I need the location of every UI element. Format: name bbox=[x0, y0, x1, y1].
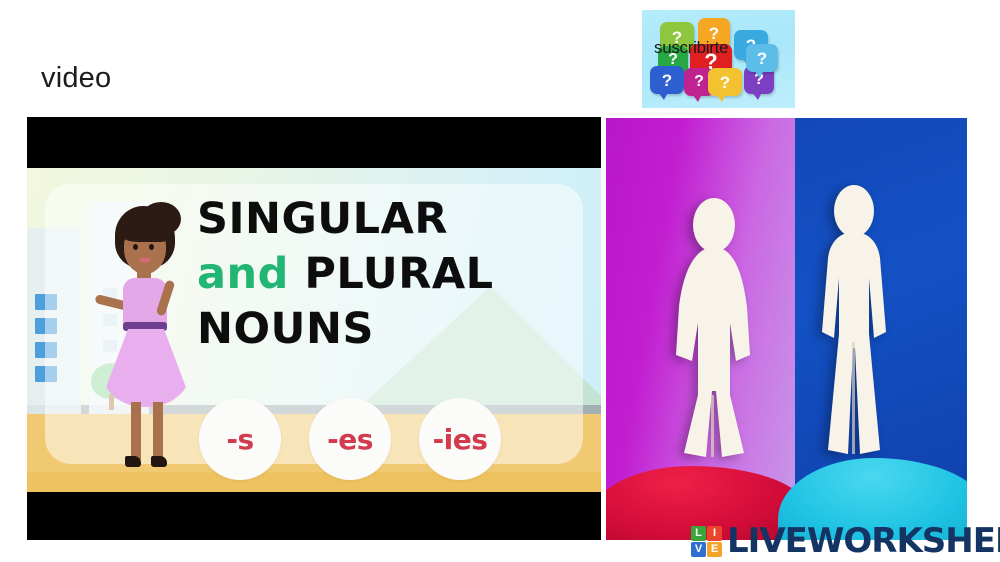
liveworksheets-wordmark: LIVEWORKSHEETS bbox=[727, 524, 1000, 558]
speech-bubble-tail bbox=[658, 92, 668, 100]
question-mark-glyph: ? bbox=[720, 74, 730, 91]
paper-figures-photo[interactable] bbox=[606, 118, 967, 540]
subscribe-banner-label: suscribirte bbox=[654, 38, 728, 58]
suffix-label: -es bbox=[327, 423, 373, 456]
liveworksheets-watermark: LIVE LIVEWORKSHEETS bbox=[691, 524, 1000, 558]
logo-letter-e: E bbox=[707, 542, 722, 557]
female-figure-cutout bbox=[668, 195, 760, 483]
question-mark-glyph: ? bbox=[662, 72, 672, 89]
suffix-circle: -s bbox=[199, 398, 281, 480]
headline-line-1: SINGULAR bbox=[197, 192, 587, 247]
logo-letter-v: V bbox=[691, 542, 706, 557]
question-mark-glyph: ? bbox=[694, 74, 704, 90]
speech-bubble-tail bbox=[752, 92, 762, 100]
subscribe-banner[interactable]: ?????????? suscribirte bbox=[642, 10, 795, 108]
speech-bubble-icon: ? bbox=[708, 68, 742, 96]
suffix-circle: -ies bbox=[419, 398, 501, 480]
headline-accent-word: and bbox=[197, 249, 289, 299]
page-title: video bbox=[41, 64, 111, 93]
headline-line-2-word: PLURAL bbox=[304, 249, 493, 299]
suffix-circle-group: -s -es -ies bbox=[199, 398, 539, 480]
speech-bubble-tail bbox=[754, 70, 764, 78]
cartoon-woman-illustration bbox=[89, 206, 209, 471]
logo-letter-l: L bbox=[691, 526, 706, 541]
speech-bubble-tail bbox=[716, 94, 726, 102]
video-thumbnail[interactable]: SINGULAR and PLURAL NOUNS -s -es -ies bbox=[27, 117, 601, 540]
speech-bubble-icon: ? bbox=[650, 66, 684, 94]
speech-bubble-cluster: ?????????? bbox=[642, 10, 795, 108]
liveworksheets-logo-icon: LIVE bbox=[691, 526, 722, 557]
question-mark-glyph: ? bbox=[757, 50, 767, 67]
suffix-label: -s bbox=[226, 423, 253, 456]
video-frame-content: SINGULAR and PLURAL NOUNS -s -es -ies bbox=[27, 168, 601, 492]
suffix-circle: -es bbox=[309, 398, 391, 480]
headline-line-2: and PLURAL bbox=[197, 247, 587, 302]
video-headline: SINGULAR and PLURAL NOUNS bbox=[197, 192, 587, 357]
speech-bubble-tail bbox=[692, 94, 702, 102]
logo-letter-i: I bbox=[707, 526, 722, 541]
male-figure-cutout bbox=[816, 182, 892, 465]
suffix-label: -ies bbox=[433, 423, 488, 456]
speech-bubble-icon: ? bbox=[746, 44, 778, 72]
headline-line-3: NOUNS bbox=[197, 302, 587, 357]
